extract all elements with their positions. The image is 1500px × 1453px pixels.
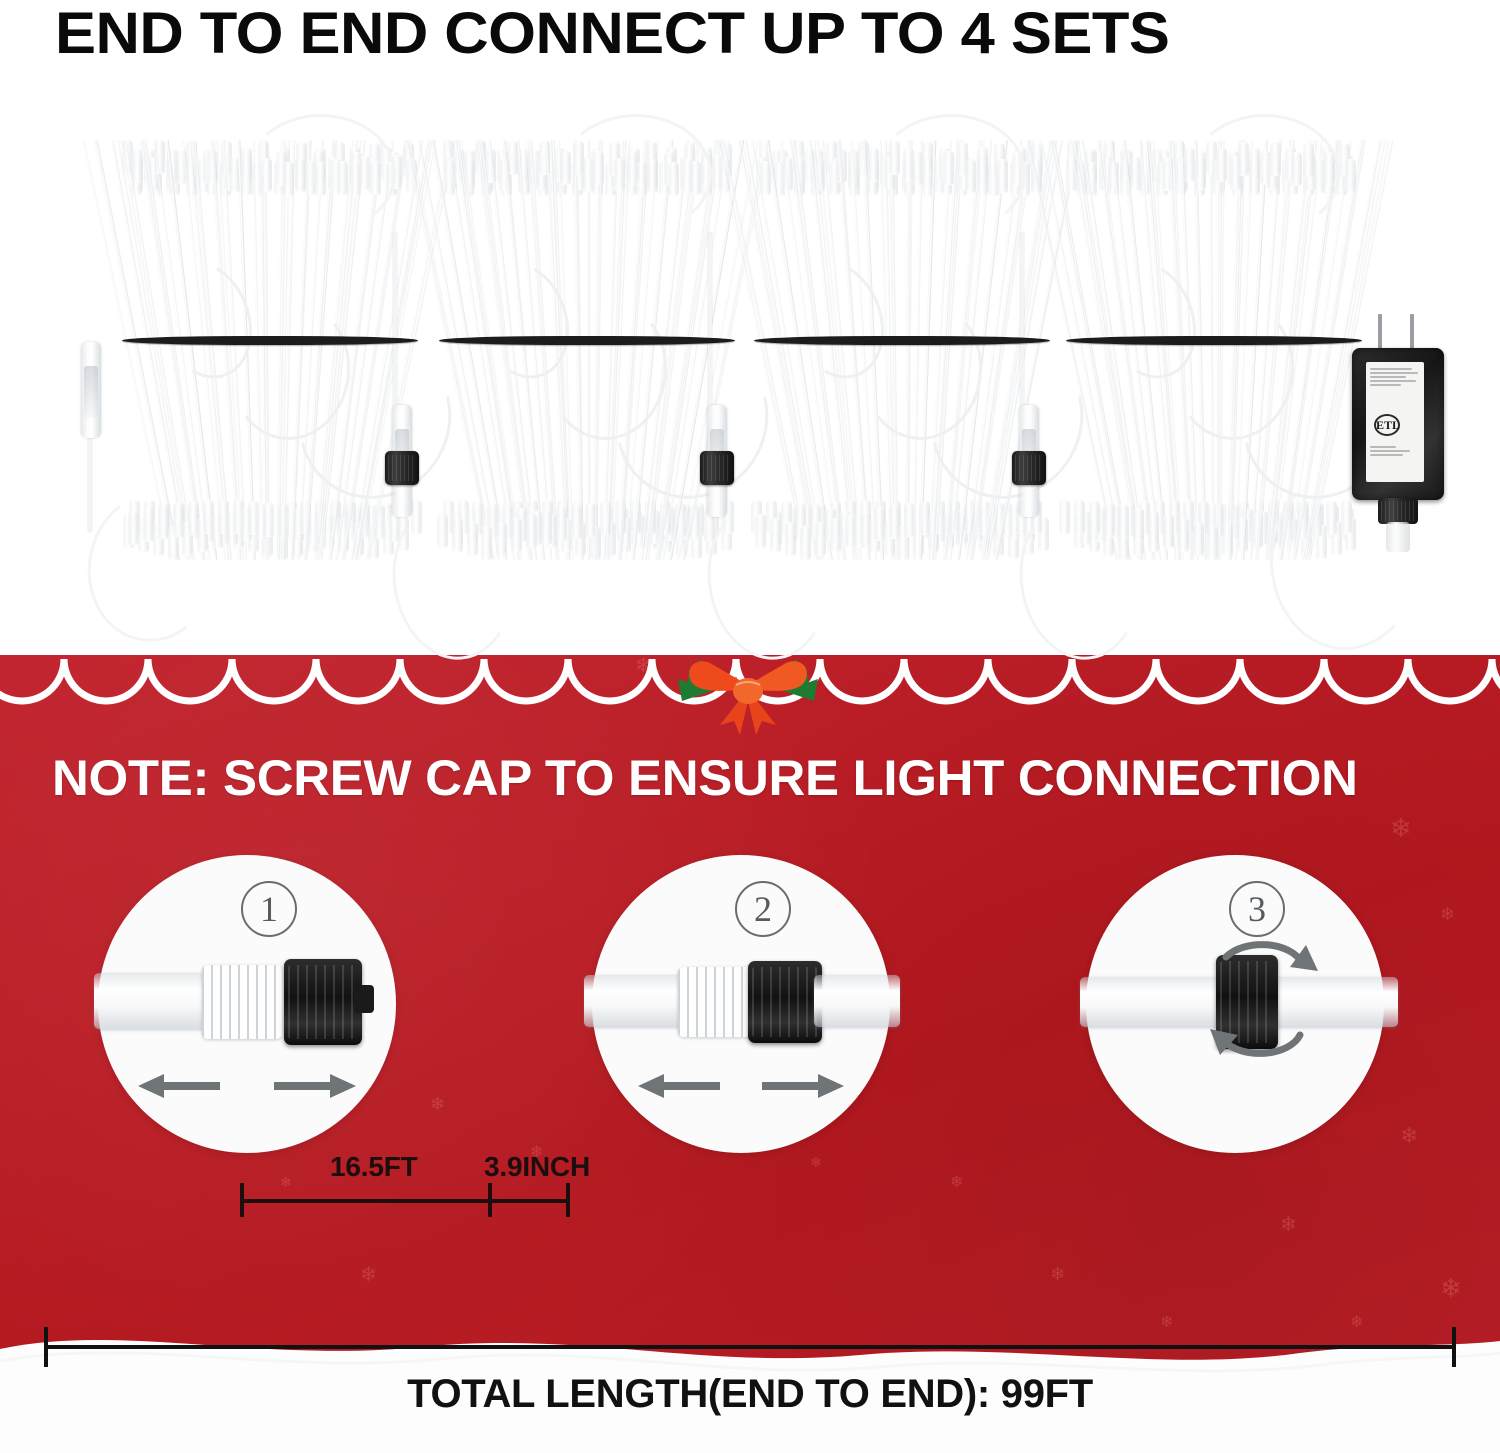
measure-tick [240,1183,244,1217]
threaded-socket [678,967,754,1037]
measure-tick [488,1183,492,1217]
bundle-tie [1066,336,1362,345]
step-circle-2: 2 [592,855,890,1153]
screw-cap-icon [748,961,822,1043]
power-adapter-plug[interactable]: ETL [1352,348,1444,538]
etl-certification-icon: ETL [1374,414,1400,436]
led-bulb [541,511,552,545]
bundle-3-top-wire [876,114,1026,234]
lead-measure-line [240,1199,570,1203]
arrows-together [592,1071,890,1101]
page-title: END TO END CONNECT UP TO 4 SETS [55,4,1500,66]
led-bulb [511,518,522,552]
end-female-connector [74,342,108,438]
total-measure-line [44,1345,1456,1349]
led-bulb [1345,159,1356,193]
lead-wire [88,436,92,532]
note-banner-text: NOTE: SCREW CAP TO ENSURE LIGHT CONNECTI… [52,751,1480,805]
arrows-apart [98,1071,396,1101]
plug-connector-tail [1386,522,1410,552]
step-number-2: 2 [735,881,791,937]
clear-connector-female [814,975,900,1027]
bundle-2-top-wire [560,114,712,234]
step-number-1: 1 [241,881,297,937]
step-circle-1: 1 [98,855,396,1153]
led-bulb [1148,511,1159,545]
led-bulb [526,514,537,548]
screw-cap-icon[interactable] [1012,451,1046,485]
cap-tip [354,985,374,1013]
bulb-spacing-label: 3.9INCH [484,1151,590,1183]
clear-connector-male [94,973,212,1029]
light-sets-row: ETL [0,120,1500,640]
led-bulb [1163,514,1174,548]
led-bulb [1193,522,1204,556]
bundle-tie [754,336,1050,345]
plug-housing: ETL [1352,348,1444,500]
step-circle-3: 3 [1086,855,1384,1153]
inline-connector-3[interactable] [1012,405,1046,517]
screw-cap-icon[interactable] [700,451,734,485]
led-bulb [1133,508,1144,542]
total-length-label: TOTAL LENGTH(END TO END): 99FT [0,1372,1500,1417]
led-bulb [830,518,841,552]
inline-connector-1[interactable] [385,405,419,517]
led-bulb [1207,526,1218,560]
plug-screw-cap-icon[interactable] [1378,498,1418,524]
bundle-1-top-wire [246,114,396,234]
inline-connector-2[interactable] [700,405,734,517]
bundle-tie [122,336,418,345]
plug-rating-label: ETL [1366,362,1424,482]
instruction-section: ❄ ❄ ❄ ❄ ❄ ❄ ❄ ❄ ❄ ❄ ❄ ❄ ❄ ❄ ❄ ❄ [0,655,1500,1453]
screw-cap-icon[interactable] [385,451,419,485]
led-bulb [1178,518,1189,552]
bundle-tie [439,336,735,345]
led-bulb [556,507,567,541]
christmas-bow-icon [648,655,848,741]
screw-cap-icon [284,959,362,1045]
rotate-arrow-icon [1182,917,1342,1087]
bundle-4-top-wire [1190,114,1340,234]
measure-tick [566,1183,570,1217]
led-bulb [571,505,582,539]
lead-length-label: 16.5FT [330,1151,418,1183]
clear-connector-male [584,975,688,1027]
threaded-socket [202,965,282,1039]
product-overview-section: END TO END CONNECT UP TO 4 SETS [0,0,1500,655]
